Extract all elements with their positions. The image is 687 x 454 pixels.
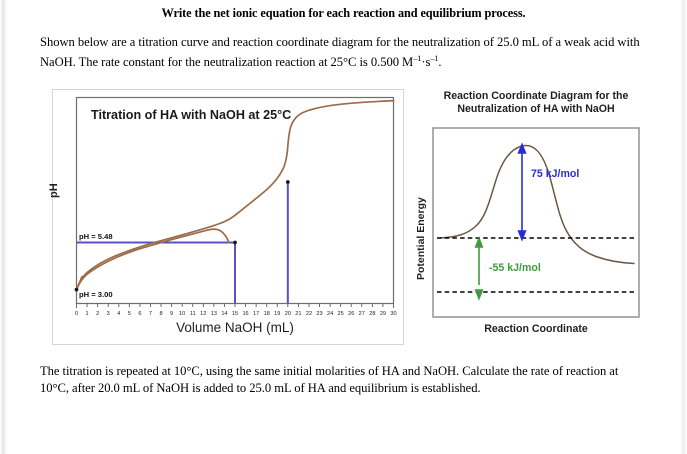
svg-text:19: 19 [274, 311, 280, 317]
svg-text:4: 4 [117, 311, 120, 317]
rate-constant-mid: ·s [421, 55, 430, 69]
closing-line-1: The titration is repeated at 10°C, using… [40, 364, 563, 378]
svg-text:15: 15 [232, 311, 238, 317]
svg-text:24: 24 [327, 311, 333, 317]
titration-chart-svg: Titration of HA with NaOH at 25°C [52, 89, 404, 324]
svg-text:6: 6 [138, 311, 141, 317]
svg-text:30: 30 [390, 311, 396, 317]
svg-text:3: 3 [107, 311, 110, 317]
svg-text:20: 20 [285, 311, 291, 317]
svg-text:21: 21 [295, 311, 301, 317]
question-heading: Write the net ionic equation for each re… [0, 6, 687, 21]
ph-5-48-annotation: pH = 5.48 [79, 232, 113, 241]
svg-text:8: 8 [159, 311, 162, 317]
svg-text:13: 13 [211, 311, 217, 317]
svg-text:0: 0 [75, 311, 78, 317]
page-right-edge-shadow [681, 0, 687, 454]
svg-text:9: 9 [170, 311, 173, 317]
activation-energy-label: 75 kJ/mol [531, 168, 579, 180]
titration-x-axis-label: Volume NaOH (mL) [76, 320, 394, 335]
svg-text:23: 23 [316, 311, 322, 317]
closing-paragraph: The titration is repeated at 10°C, using… [40, 363, 640, 396]
svg-text:14: 14 [221, 311, 227, 317]
titration-chart-title: Titration of HA with NaOH at 25°C [91, 108, 291, 122]
reaction-coordinate-x-axis-label: Reaction Coordinate [432, 323, 640, 335]
svg-text:16: 16 [242, 311, 248, 317]
intro-period: . [438, 55, 441, 69]
reaction-coordinate-plot-frame [433, 128, 639, 317]
svg-text:28: 28 [369, 311, 375, 317]
enthalpy-change-label: -55 kJ/mol [489, 262, 541, 274]
svg-text:1: 1 [86, 311, 89, 317]
svg-text:5: 5 [128, 311, 131, 317]
intro-paragraph: Shown below are a titration curve and re… [40, 34, 648, 70]
document-page: Write the net ionic equation for each re… [0, 0, 687, 454]
intro-line-1: Shown below are a titration curve and re… [40, 35, 561, 49]
reaction-coordinate-y-axis-label: Potential Energy [415, 197, 427, 280]
reaction-coordinate-svg: 75 kJ/mol -55 kJ/mol [432, 127, 640, 319]
svg-text:26: 26 [348, 311, 354, 317]
titration-x-tick-labels: 0 1 2 3 4 5 6 7 8 9 10 11 12 13 14 15 16… [75, 311, 397, 317]
svg-text:17: 17 [253, 311, 259, 317]
svg-text:29: 29 [380, 311, 386, 317]
svg-text:10: 10 [179, 311, 185, 317]
svg-text:2: 2 [96, 311, 99, 317]
svg-text:11: 11 [190, 311, 196, 317]
ph-3-00-annotation: pH = 3.00 [79, 290, 113, 299]
svg-text:7: 7 [149, 311, 152, 317]
reaction-coordinate-title-line-1: Reaction Coordinate Diagram for the [432, 90, 640, 103]
equivalence-marker [286, 180, 290, 184]
ph-3-00-marker [75, 288, 79, 292]
svg-text:12: 12 [200, 311, 206, 317]
svg-text:25: 25 [338, 311, 344, 317]
reaction-coordinate-title-line-2: Neutralization of HA with NaOH [432, 103, 640, 116]
ph-5-48-marker [233, 241, 237, 245]
reaction-coordinate-title: Reaction Coordinate Diagram for the Neut… [432, 90, 640, 116]
page-left-edge-shadow [0, 0, 7, 454]
svg-text:22: 22 [306, 311, 312, 317]
svg-text:27: 27 [359, 311, 365, 317]
svg-text:18: 18 [264, 311, 270, 317]
